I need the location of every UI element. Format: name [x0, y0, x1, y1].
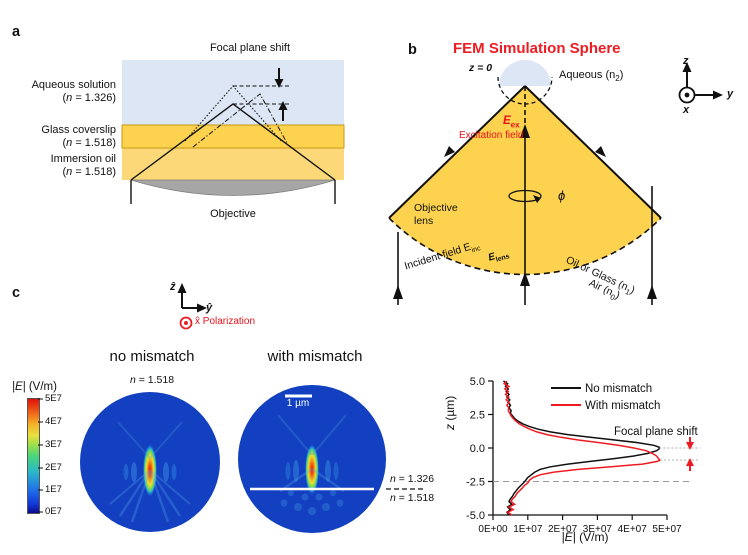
plot-ylabel: z (µm): [443, 396, 458, 430]
figure-root: a Focal plane shift Aqueous so: [0, 0, 748, 555]
plot-y-ticklabel: 5.0: [470, 376, 485, 388]
plot-y-ticklabel: 2.5: [470, 410, 485, 422]
focal-shift-arrow-up-head: [686, 458, 694, 466]
legend-label-with-mismatch: With mismatch: [585, 399, 660, 413]
plot-annotation-focal-shift: Focal plane shift: [614, 425, 698, 439]
plot-y-ticklabel: 0.0: [470, 443, 485, 455]
plot-y-ticklabel: -2.5: [466, 477, 485, 489]
plot-y-ticklabel: -5.0: [466, 510, 485, 522]
line-plot: 5.02.50.0-2.5-5.00E+001E+072E+073E+074E+…: [0, 0, 748, 555]
legend-label-no-mismatch: No mismatch: [585, 382, 652, 396]
plot-xlabel: |E| (V/m): [500, 530, 670, 545]
focal-shift-arrow-down-head: [686, 442, 694, 450]
